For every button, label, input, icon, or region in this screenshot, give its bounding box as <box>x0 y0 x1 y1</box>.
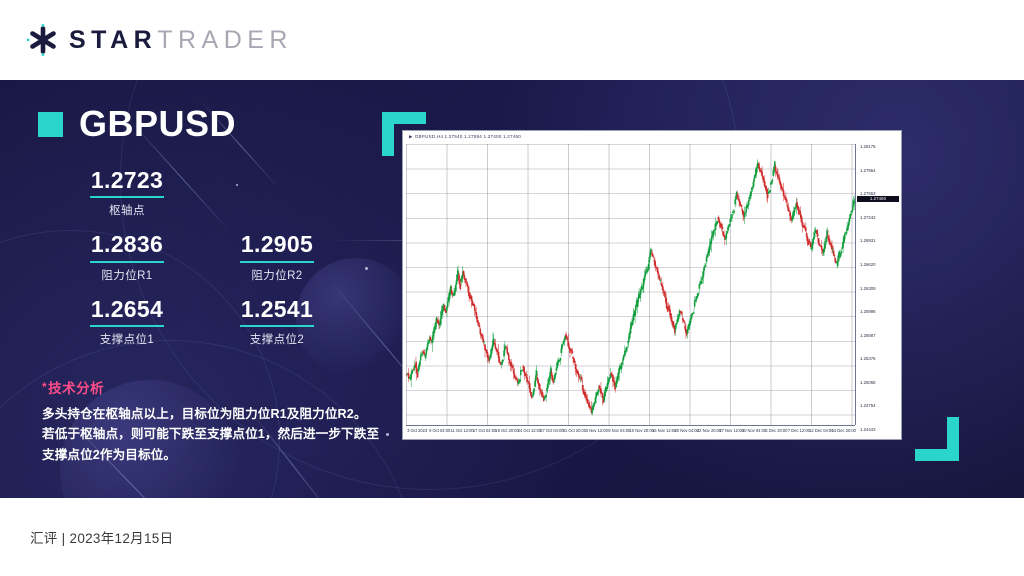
pivot-row: 1.2723 枢轴点 <box>52 168 398 218</box>
app-header: STARTRADER <box>0 0 1024 80</box>
analysis-line-3: 支撑点位2作为目标位。 <box>42 445 398 465</box>
time-tick: 27 Nov 12:00 <box>719 429 743 433</box>
level-value: 1.2541 <box>202 297 352 322</box>
time-tick: 20 Nov 04:00 <box>674 429 698 433</box>
price-tick: 1.26931 <box>860 239 876 243</box>
level-label: 阻力位R1 <box>52 267 202 283</box>
analysis-line-2: 若低于枢轴点，则可能下跌至支撑点位1，然后进一步下跌至 <box>42 424 398 444</box>
time-tick: 24 Oct 12:00 <box>518 429 541 433</box>
chart-title-text: GBPUSD,H4 1.27540 1.27594 1.27400 1.2746… <box>415 134 521 139</box>
asterisk-star-mark-icon <box>26 23 60 57</box>
level-value: 1.2654 <box>52 297 202 322</box>
time-tick: 12 Dec 04:00 <box>809 429 833 433</box>
chart-plot-area <box>406 144 855 425</box>
time-tick: 3 Nov 12:00 <box>586 429 608 433</box>
brand-logo[interactable]: STARTRADER <box>26 23 293 57</box>
price-chart[interactable]: ▶GBPUSD,H4 1.27540 1.27594 1.27400 1.274… <box>402 130 902 440</box>
price-tick: 1.26309 <box>860 287 876 291</box>
level-underline <box>240 325 314 327</box>
instrument-panel: GBPUSD 1.2723 枢轴点 1.2836 阻力位R1 1.2905 <box>38 106 398 465</box>
level-underline <box>90 261 164 263</box>
price-tick: 1.25065 <box>860 381 876 385</box>
level-label: 阻力位R2 <box>202 267 352 283</box>
level-resistance-2: 1.2905 阻力位R2 <box>202 232 352 282</box>
price-tick: 1.25376 <box>860 357 876 361</box>
level-underline <box>90 325 164 327</box>
time-tick: 10 Nov 20:00 <box>630 429 654 433</box>
price-tick: 1.24754 <box>860 404 876 408</box>
current-price-badge: 1.27460 <box>857 196 899 202</box>
level-resistance-1: 1.2836 阻力位R1 <box>52 232 202 282</box>
time-tick: 22 Nov 20:00 <box>697 429 721 433</box>
candlestick-series <box>406 144 855 425</box>
level-value: 1.2905 <box>202 232 352 257</box>
level-label: 支撑点位2 <box>202 331 352 347</box>
content-stage: GBPUSD 1.2723 枢轴点 1.2836 阻力位R1 1.2905 <box>0 80 1024 498</box>
level-support-1: 1.2654 支撑点位1 <box>52 297 202 347</box>
instrument-heading: GBPUSD <box>38 106 398 142</box>
time-tick: 16 Nov 12:00 <box>652 429 676 433</box>
analysis-line-1: 多头持仓在枢轴点以上，目标位为阻力位R1及阻力位R2。 <box>42 404 398 424</box>
brand-name-trader: TRADER <box>157 26 293 54</box>
time-axis[interactable]: 3 Oct 20239 Oct 04:0011 Oct 12:0017 Oct … <box>406 425 855 437</box>
technical-analysis: *技术分析 多头持仓在枢轴点以上，目标位为阻力位R1及阻力位R2。 若低于枢轴点… <box>38 377 398 465</box>
footer-caption: 汇评 | 2023年12月15日 <box>30 527 173 547</box>
support-row: 1.2654 支撑点位1 1.2541 支撑点位2 <box>52 297 398 347</box>
level-underline <box>240 261 314 263</box>
pivot-levels: 1.2723 枢轴点 1.2836 阻力位R1 1.2905 阻力位R2 <box>38 168 398 347</box>
corner-bracket-bottom-right <box>915 417 959 461</box>
time-tick: 3 Oct 2023 <box>407 429 427 433</box>
analysis-body: 多头持仓在枢轴点以上，目标位为阻力位R1及阻力位R2。 若低于枢轴点，则可能下跌… <box>42 404 398 465</box>
level-underline <box>90 196 164 198</box>
time-tick: 17 Oct 04:00 <box>473 429 496 433</box>
price-tick: 1.25998 <box>860 310 876 314</box>
level-pivot: 1.2723 枢轴点 <box>52 168 202 218</box>
price-tick: 1.28175 <box>860 145 876 149</box>
time-tick: 14 Dec 20:00 <box>832 429 856 433</box>
chart-inner: ▶GBPUSD,H4 1.27540 1.27594 1.27400 1.274… <box>405 133 899 437</box>
level-label: 枢轴点 <box>52 202 202 218</box>
level-value: 1.2836 <box>52 232 202 257</box>
time-tick: 8 Nov 04:00 <box>608 429 630 433</box>
analysis-heading-text: 技术分析 <box>48 381 104 396</box>
price-axis[interactable]: 1.281751.278641.275531.272421.269311.266… <box>855 144 899 425</box>
level-support-2: 1.2541 支撑点位2 <box>202 297 352 347</box>
price-tick: 1.27242 <box>860 216 876 220</box>
analysis-heading: *技术分析 <box>42 377 398 397</box>
page-footer: 汇评 | 2023年12月15日 <box>0 498 1024 576</box>
time-tick: 7 Dec 12:00 <box>788 429 810 433</box>
price-tick: 1.25687 <box>860 334 876 338</box>
time-tick: 30 Nov 04:00 <box>742 429 766 433</box>
price-tick: 1.26620 <box>860 263 876 267</box>
time-tick: 9 Oct 04:00 <box>429 429 450 433</box>
level-value: 1.2723 <box>52 168 202 193</box>
level-label: 支撑点位1 <box>52 331 202 347</box>
triangle-icon: ▶ <box>409 134 413 139</box>
page-title: GBPUSD <box>79 106 236 142</box>
price-tick: 1.27864 <box>860 169 876 173</box>
time-tick: 11 Oct 12:00 <box>451 429 474 433</box>
resistance-row: 1.2836 阻力位R1 1.2905 阻力位R2 <box>52 232 398 282</box>
time-tick: 27 Oct 04:00 <box>540 429 563 433</box>
price-tick: 1.24443 <box>860 428 876 432</box>
time-tick: 4 Dec 20:00 <box>765 429 787 433</box>
chart-title: ▶GBPUSD,H4 1.27540 1.27594 1.27400 1.274… <box>409 135 521 140</box>
time-tick: 19 Oct 20:00 <box>495 429 518 433</box>
square-bullet-icon <box>38 112 63 137</box>
brand-name-star: STAR <box>69 26 157 54</box>
time-tick: 31 Oct 20:00 <box>563 429 586 433</box>
asterisk-icon: * <box>42 380 47 394</box>
